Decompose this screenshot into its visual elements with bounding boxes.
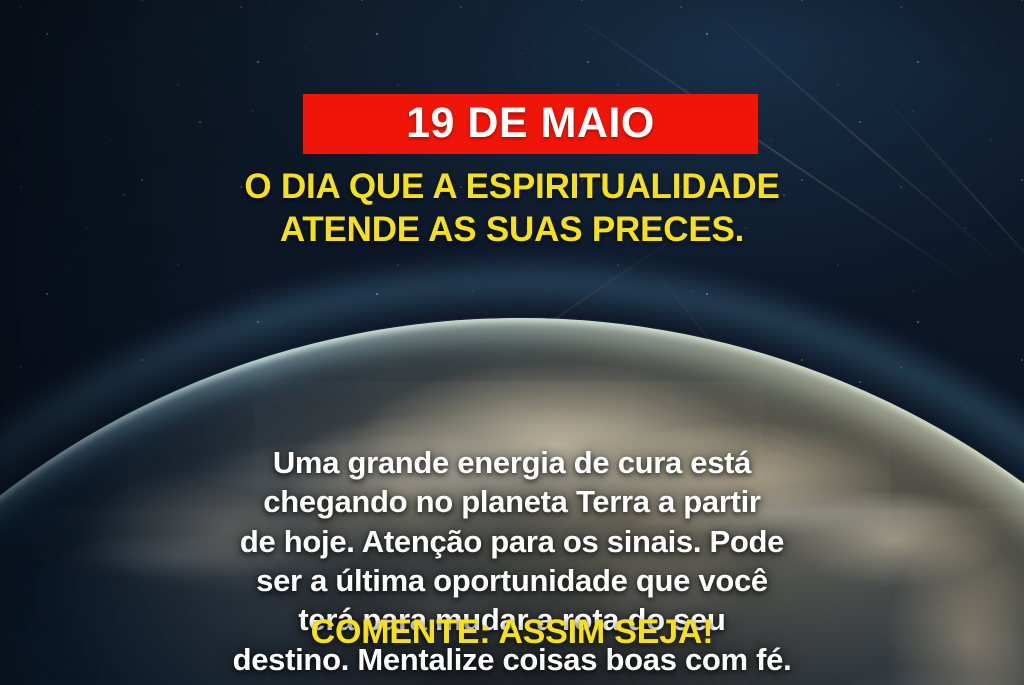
headline: O DIA QUE A ESPIRITUALIDADE ATENDE AS SU… bbox=[0, 166, 1024, 251]
headline-line-2: ATENDE AS SUAS PRECES. bbox=[0, 209, 1024, 252]
body-line: Uma grande energia de cura está bbox=[0, 443, 1024, 482]
call-to-action-label: COMENTE: ASSIM SEJA! bbox=[311, 613, 714, 651]
body-line: chegando no planeta Terra a partir bbox=[0, 482, 1024, 521]
poster-content: 19 DE MAIO O DIA QUE A ESPIRITUALIDADE A… bbox=[0, 0, 1024, 685]
call-to-action: COMENTE: ASSIM SEJA! bbox=[0, 614, 1024, 651]
body-line: ser a última oportunidade que você bbox=[0, 561, 1024, 600]
body-line: de hoje. Atenção para os sinais. Pode bbox=[0, 522, 1024, 561]
headline-line-1: O DIA QUE A ESPIRITUALIDADE bbox=[244, 167, 779, 206]
date-banner-label: 19 DE MAIO bbox=[406, 102, 655, 145]
poster-canvas: 19 DE MAIO O DIA QUE A ESPIRITUALIDADE A… bbox=[0, 0, 1024, 685]
date-banner: 19 DE MAIO bbox=[303, 94, 758, 154]
